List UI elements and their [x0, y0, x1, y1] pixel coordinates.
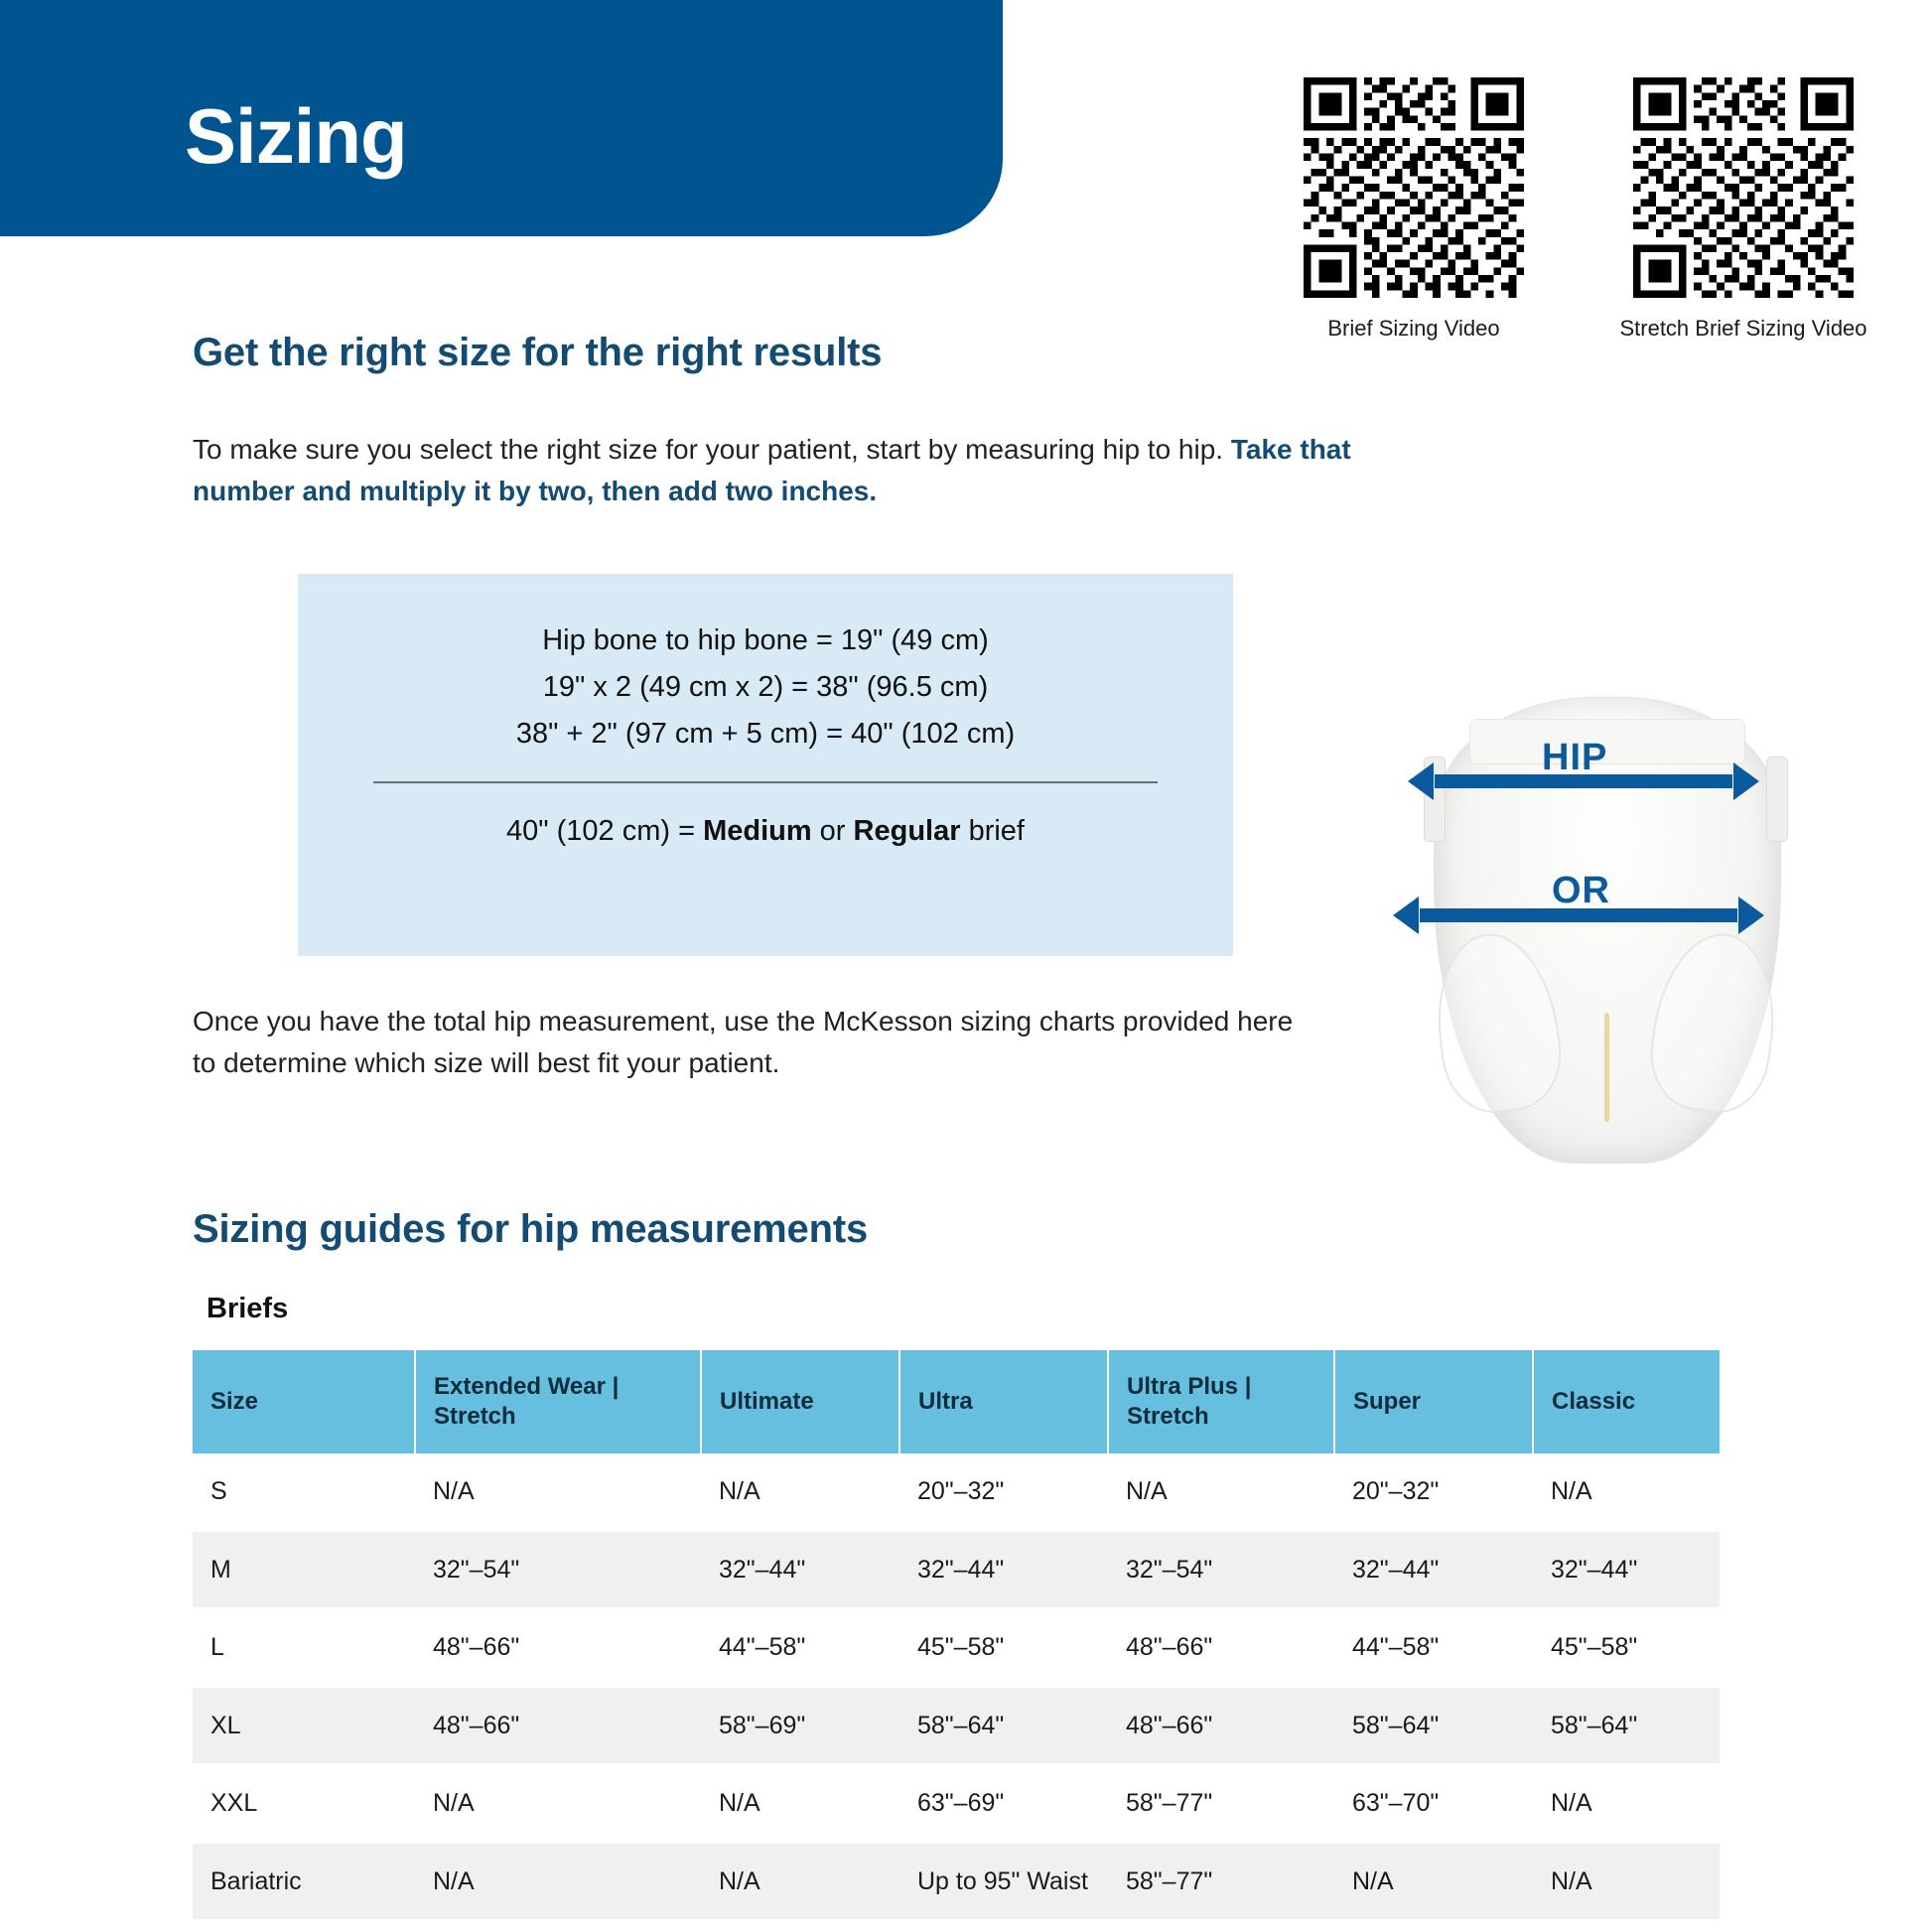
brief-seam: [1604, 1013, 1609, 1122]
column-header-size: Size: [193, 1350, 415, 1453]
cell-ultra-plus: 48"–66": [1108, 1687, 1334, 1765]
cell-ultra: 20"–32": [899, 1453, 1108, 1531]
table-title-briefs: Briefs: [207, 1293, 288, 1325]
measure-arrow-hip: [1435, 774, 1732, 788]
cell-size: M: [193, 1531, 415, 1609]
formula-result-middle: or: [812, 815, 854, 847]
double-arrow-icon: [1435, 774, 1732, 788]
cell-super: 58"–64": [1334, 1687, 1533, 1765]
formula-result-suffix: brief: [961, 815, 1025, 847]
table-row: Bariatric N/A N/A Up to 95" Waist 58"–77…: [193, 1843, 1720, 1921]
cell-classic: 45"–58": [1533, 1608, 1720, 1687]
table-header-row: Size Extended Wear | Stretch Ultimate Ul…: [193, 1350, 1720, 1453]
cell-ultra: 63"–69": [899, 1764, 1108, 1843]
table-head: Size Extended Wear | Stretch Ultimate Ul…: [193, 1350, 1720, 1453]
cell-size: L: [193, 1608, 415, 1687]
cell-ultra: 32"–44": [899, 1531, 1108, 1609]
section-heading-right-size: Get the right size for the right results: [193, 331, 882, 375]
cell-super: 44"–58": [1334, 1608, 1533, 1687]
cell-size: Bariatric: [193, 1843, 415, 1921]
cell-super: 20"–32": [1334, 1453, 1533, 1531]
formula-result: 40" (102 cm) = Medium or Regular brief: [298, 815, 1233, 848]
column-header-super: Super: [1334, 1350, 1533, 1453]
cell-ultra-plus: 32"–54": [1108, 1531, 1334, 1609]
table-row: XL 48"–66" 58"–69" 58"–64" 48"–66" 58"–6…: [193, 1687, 1720, 1765]
cell-extended-wear: N/A: [415, 1843, 701, 1921]
qr-caption-stretch: Stretch Brief Sizing Video: [1619, 314, 1867, 344]
cell-ultimate: 44"–58": [701, 1608, 899, 1687]
cell-ultra-plus: 58"–77": [1108, 1764, 1334, 1843]
section-heading-sizing-guides: Sizing guides for hip measurements: [193, 1207, 868, 1252]
cell-ultra-plus: 58"–77": [1108, 1843, 1334, 1921]
cell-ultra: Up to 95" Waist: [899, 1843, 1108, 1921]
column-header-ultra: Ultra: [899, 1350, 1108, 1453]
cell-ultimate: 32"–44": [701, 1531, 899, 1609]
cell-super: N/A: [1334, 1843, 1533, 1921]
formula-line-2: 19" x 2 (49 cm x 2) = 38" (96.5 cm): [298, 664, 1233, 711]
page-title: Sizing: [185, 91, 407, 182]
cell-super: 63"–70": [1334, 1764, 1533, 1843]
table-row: XXL N/A N/A 63"–69" 58"–77" 63"–70" N/A: [193, 1764, 1720, 1843]
second-paragraph: Once you have the total hip measurement,…: [193, 1001, 1314, 1084]
label-hip: HIP: [1542, 737, 1607, 779]
column-header-ultra-plus-stretch: Ultra Plus | Stretch: [1108, 1350, 1334, 1453]
cell-size: XXL: [193, 1764, 415, 1843]
label-or: OR: [1552, 870, 1610, 912]
cell-classic: 58"–64": [1533, 1687, 1720, 1765]
cell-extended-wear: N/A: [415, 1764, 701, 1843]
formula-line-3: 38" + 2" (97 cm + 5 cm) = 40" (102 cm): [298, 711, 1233, 758]
cell-super: 32"–44": [1334, 1531, 1533, 1609]
cell-ultra-plus: N/A: [1108, 1453, 1334, 1531]
formula-box: Hip bone to hip bone = 19" (49 cm) 19" x…: [298, 574, 1233, 956]
cell-ultimate: N/A: [701, 1843, 899, 1921]
formula-line-1: Hip bone to hip bone = 19" (49 cm): [298, 618, 1233, 664]
table-row: S N/A N/A 20"–32" N/A 20"–32" N/A: [193, 1453, 1720, 1531]
header-banner: [0, 0, 1003, 236]
qr-block-brief-sizing-video[interactable]: Brief Sizing Video: [1290, 77, 1538, 344]
cell-classic: N/A: [1533, 1843, 1720, 1921]
measure-arrow-or: [1420, 908, 1737, 922]
qr-block-stretch-brief-sizing-video[interactable]: Stretch Brief Sizing Video: [1619, 77, 1867, 344]
formula-lines: Hip bone to hip bone = 19" (49 cm) 19" x…: [298, 574, 1233, 758]
table-row: M 32"–54" 32"–44" 32"–44" 32"–54" 32"–44…: [193, 1531, 1720, 1609]
double-arrow-icon: [1420, 908, 1737, 922]
formula-divider: [373, 781, 1158, 783]
intro-paragraph: To make sure you select the right size f…: [193, 429, 1414, 512]
cell-classic: N/A: [1533, 1453, 1720, 1531]
cell-extended-wear: 32"–54": [415, 1531, 701, 1609]
cell-extended-wear: N/A: [415, 1453, 701, 1531]
column-header-extended-wear-stretch: Extended Wear | Stretch: [415, 1350, 701, 1453]
table-body: S N/A N/A 20"–32" N/A 20"–32" N/A M 32"–…: [193, 1453, 1720, 1920]
column-header-classic: Classic: [1533, 1350, 1720, 1453]
formula-result-size-2: Regular: [854, 815, 961, 847]
qr-code-icon[interactable]: [1633, 77, 1854, 298]
cell-ultimate: 58"–69": [701, 1687, 899, 1765]
sizing-table-briefs: Size Extended Wear | Stretch Ultimate Ul…: [193, 1350, 1720, 1921]
column-header-ultimate: Ultimate: [701, 1350, 899, 1453]
brief-tab-right: [1766, 757, 1788, 842]
formula-result-size-1: Medium: [703, 815, 812, 847]
cell-classic: N/A: [1533, 1764, 1720, 1843]
qr-code-icon[interactable]: [1304, 77, 1524, 298]
intro-paragraph-plain: To make sure you select the right size f…: [193, 434, 1231, 465]
cell-size: S: [193, 1453, 415, 1531]
cell-size: XL: [193, 1687, 415, 1765]
table-row: L 48"–66" 44"–58" 45"–58" 48"–66" 44"–58…: [193, 1608, 1720, 1687]
cell-classic: 32"–44": [1533, 1531, 1720, 1609]
cell-extended-wear: 48"–66": [415, 1687, 701, 1765]
formula-result-prefix: 40" (102 cm) =: [506, 815, 703, 847]
cell-ultra-plus: 48"–66": [1108, 1608, 1334, 1687]
cell-ultimate: N/A: [701, 1764, 899, 1843]
cell-extended-wear: 48"–66": [415, 1608, 701, 1687]
cell-ultimate: N/A: [701, 1453, 899, 1531]
cell-ultra: 58"–64": [899, 1687, 1108, 1765]
cell-ultra: 45"–58": [899, 1608, 1108, 1687]
qr-caption-brief: Brief Sizing Video: [1290, 314, 1538, 344]
